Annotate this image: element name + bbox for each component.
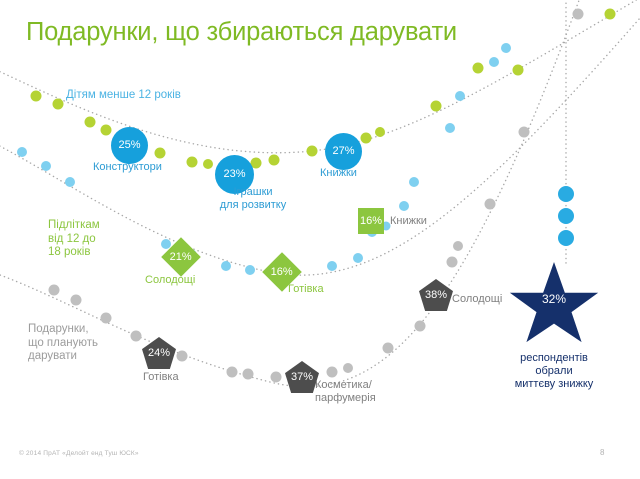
marker-value: 23% bbox=[223, 169, 245, 180]
page-title: Подарунки, що збираються дарувати bbox=[26, 18, 457, 47]
series-label-kids: Дітям менше 12 років bbox=[66, 89, 181, 103]
marker-kids-constructors[interactable]: 25% bbox=[111, 127, 148, 164]
marker-label-teens-books: Книжки bbox=[390, 215, 427, 228]
marker-value: 27% bbox=[332, 146, 354, 157]
marker-label-plan-cosmetics: Косметика/ парфумерія bbox=[315, 379, 376, 404]
marker-label-plan-cash: Готівка bbox=[143, 371, 179, 384]
marker-label-teens-cash: Готівка bbox=[288, 283, 324, 296]
callout-value: 32% bbox=[508, 292, 600, 306]
marker-value: 25% bbox=[118, 140, 140, 151]
marker-label-plan-sweets: Солодощі bbox=[452, 293, 502, 306]
series-label-planned-gifts: Подарунки, що планують дарувати bbox=[28, 323, 98, 364]
footer-page-number: 8 bbox=[600, 448, 604, 457]
marker-value: 21% bbox=[170, 252, 192, 263]
slide-canvas: Подарунки, що збираються дарувати Дітям … bbox=[0, 0, 640, 479]
callout-caption: респондентів обрали миттєву знижку bbox=[494, 352, 614, 391]
series-label-teens: Підліткам від 12 до 18 років bbox=[48, 219, 100, 260]
marker-label-kids-books: Книжки bbox=[320, 167, 357, 180]
marker-value: 38% bbox=[425, 290, 447, 301]
star-icon bbox=[508, 262, 600, 350]
marker-label-kids-constructors: Конструктори bbox=[93, 161, 162, 174]
callout-star[interactable]: 32% bbox=[508, 262, 600, 350]
marker-label-kids-developmental-toys: Іграшки для розвитку bbox=[213, 186, 293, 211]
marker-kids-books[interactable]: 27% bbox=[325, 133, 362, 170]
marker-label-teens-sweets: Солодощі bbox=[145, 274, 195, 287]
marker-value: 37% bbox=[291, 372, 313, 383]
marker-teens-books[interactable]: 16% bbox=[358, 208, 384, 234]
marker-value: 16% bbox=[360, 216, 382, 227]
footer-copyright: © 2014 ПрАТ «Делойт енд Туш ЮСК» bbox=[19, 450, 139, 457]
marker-value: 16% bbox=[271, 267, 293, 278]
marker-value: 24% bbox=[148, 348, 170, 359]
